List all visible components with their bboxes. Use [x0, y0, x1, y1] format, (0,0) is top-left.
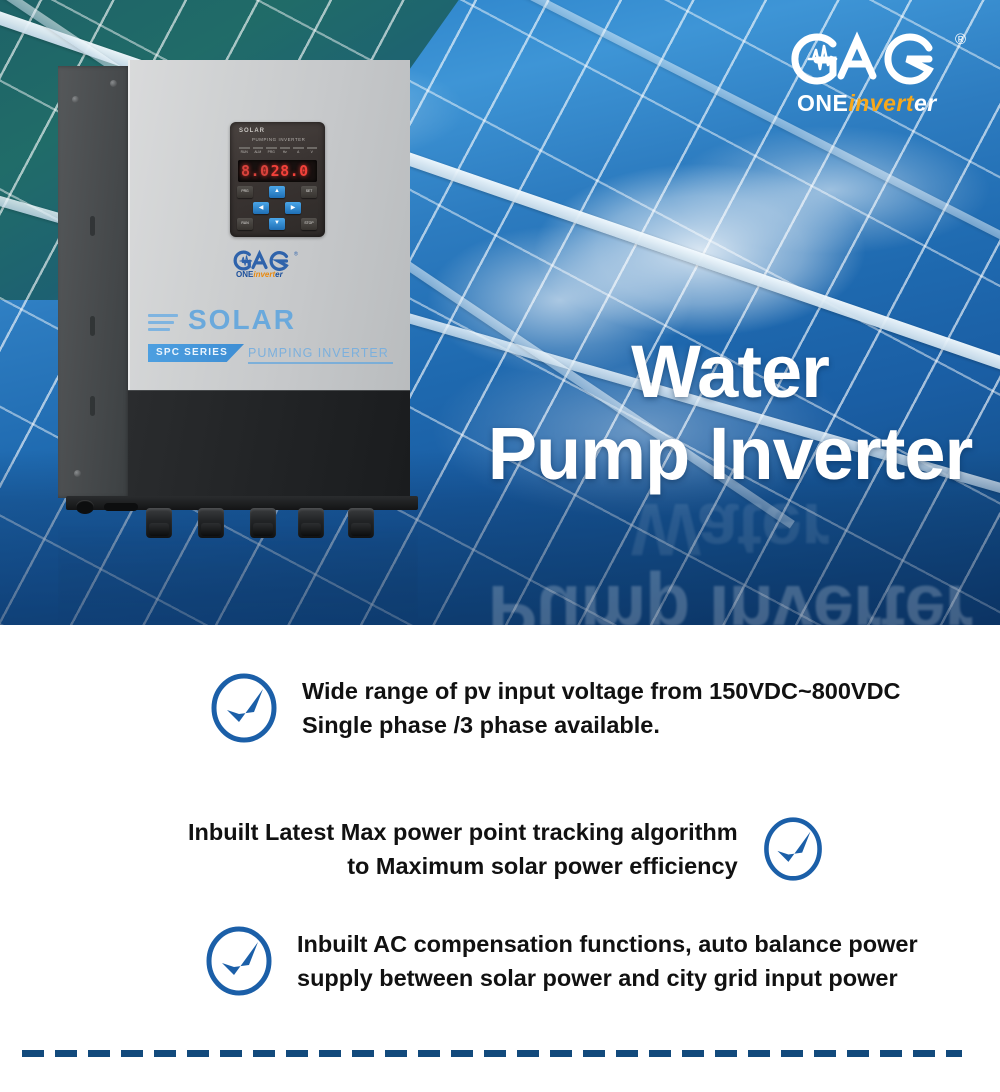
control-panel-title: SOLAR [239, 128, 265, 134]
feature-item-2: Inbuilt Latest Max power point tracking … [188, 815, 826, 883]
vent-slot [90, 316, 95, 336]
check-circle-icon [208, 672, 280, 744]
feature-line-1: Wide range of pv input voltage from 150V… [302, 674, 901, 708]
check-circle-icon [760, 816, 826, 882]
feature-text-1: Wide range of pv input voltage from 150V… [302, 674, 901, 742]
cable-gland [298, 508, 324, 538]
gae-logo-mark: ® [779, 24, 984, 94]
registered-mark: ® [955, 31, 966, 48]
brand-invert-text: invert [848, 90, 914, 116]
hero-banner: ® ONEinverter Pump Inverter Water Water … [0, 0, 1000, 625]
feature-line-1: Inbuilt AC compensation functions, auto … [297, 927, 918, 961]
status-led-label: ALM [254, 150, 261, 154]
menu-bars-icon [148, 314, 178, 335]
product-image: SOLAR PUMPING INVERTER RUN ALM PRG Hz A … [58, 60, 418, 520]
status-led-label: Hz [283, 150, 287, 154]
device-brand-logo: ® ONEinverter [226, 248, 326, 282]
cable-gland [198, 508, 224, 538]
status-led: Hz [280, 147, 291, 154]
status-led: ALM [253, 147, 264, 154]
features-section: Wide range of pv input voltage from 150V… [0, 625, 1000, 1092]
keypad-button-right[interactable]: ▶ [285, 202, 301, 214]
cable-gland [146, 508, 172, 538]
feature-text-2: Inbuilt Latest Max power point tracking … [188, 815, 738, 883]
control-panel-subtitle: PUMPING INVERTER [252, 137, 305, 142]
keypad-button-down[interactable]: ▼ [269, 218, 285, 230]
keypad-button-stop[interactable]: STOP [301, 218, 317, 230]
status-led-row: RUN ALM PRG Hz A V [239, 147, 317, 158]
feature-line-2: to Maximum solar power efficiency [188, 849, 738, 883]
status-led: PRG [266, 147, 277, 154]
led-display: 8.0 28.0 [238, 160, 317, 182]
control-panel[interactable]: SOLAR PUMPING INVERTER RUN ALM PRG Hz A … [230, 122, 325, 237]
device-solar-branding: SOLAR SPC SERIES PUMPING INVERTER [148, 306, 398, 366]
dashed-divider [22, 1050, 962, 1057]
check-circle-icon [203, 925, 275, 997]
screw-icon [74, 470, 81, 477]
device-lower-enclosure [128, 390, 410, 498]
display-value-primary: 8.0 [241, 164, 270, 179]
brand-tagline: ONEinverter [797, 92, 977, 115]
device-logo-tagline: ONEinverter [236, 270, 283, 279]
feature-item-1: Wide range of pv input voltage from 150V… [208, 672, 901, 744]
brand-one-text: ONE [797, 90, 848, 116]
cable-gland [250, 508, 276, 538]
status-led-label: RUN [241, 150, 248, 154]
device-solar-text: SOLAR [188, 306, 296, 334]
feature-line-2: Single phase /3 phase available. [302, 708, 901, 742]
page-title: Water Pump Inverter [470, 335, 990, 491]
device-logo-er: er [275, 270, 283, 279]
headline-line2: Pump Inverter [470, 417, 990, 491]
cable-gland [348, 508, 374, 538]
gae-brand-logo: ® ONEinverter [779, 24, 984, 124]
feature-line-2: supply between solar power and city grid… [297, 961, 918, 995]
vent-slot [90, 396, 95, 416]
keypad-button-up[interactable]: ▲ [269, 186, 285, 198]
status-led-label: V [311, 150, 313, 154]
keypad[interactable]: PRG ▲ SET ◀ ▶ RUN ▼ STOP [237, 186, 318, 232]
device-logo-one: ONE [236, 270, 253, 279]
status-led-label: A [297, 150, 299, 154]
mounting-slot [104, 503, 138, 511]
vent-slot [90, 216, 95, 236]
keypad-button-run[interactable]: RUN [237, 218, 253, 230]
registered-mark: ® [294, 250, 299, 257]
status-led: V [307, 147, 318, 154]
feature-item-3: Inbuilt AC compensation functions, auto … [203, 925, 918, 997]
keypad-button-set[interactable]: SET [301, 186, 317, 198]
device-series-badge: SPC SERIES [148, 344, 244, 362]
device-side-panel [58, 66, 130, 498]
keypad-button-left[interactable]: ◀ [253, 202, 269, 214]
mounting-hole [76, 500, 94, 514]
display-value-secondary: 28.0 [271, 164, 309, 179]
status-led: A [293, 147, 304, 154]
underline-rule [248, 362, 393, 364]
screw-icon [72, 96, 79, 103]
screw-icon [110, 80, 117, 87]
device-type-text: PUMPING INVERTER [248, 344, 389, 362]
keypad-button-prg[interactable]: PRG [237, 186, 253, 198]
brand-er-text: er [914, 90, 937, 116]
headline-line1: Water [470, 335, 990, 409]
feature-text-3: Inbuilt AC compensation functions, auto … [297, 927, 918, 995]
status-led-label: PRG [268, 150, 275, 154]
device-logo-invert: invert [253, 270, 275, 279]
status-led: RUN [239, 147, 250, 154]
feature-line-1: Inbuilt Latest Max power point tracking … [188, 815, 738, 849]
